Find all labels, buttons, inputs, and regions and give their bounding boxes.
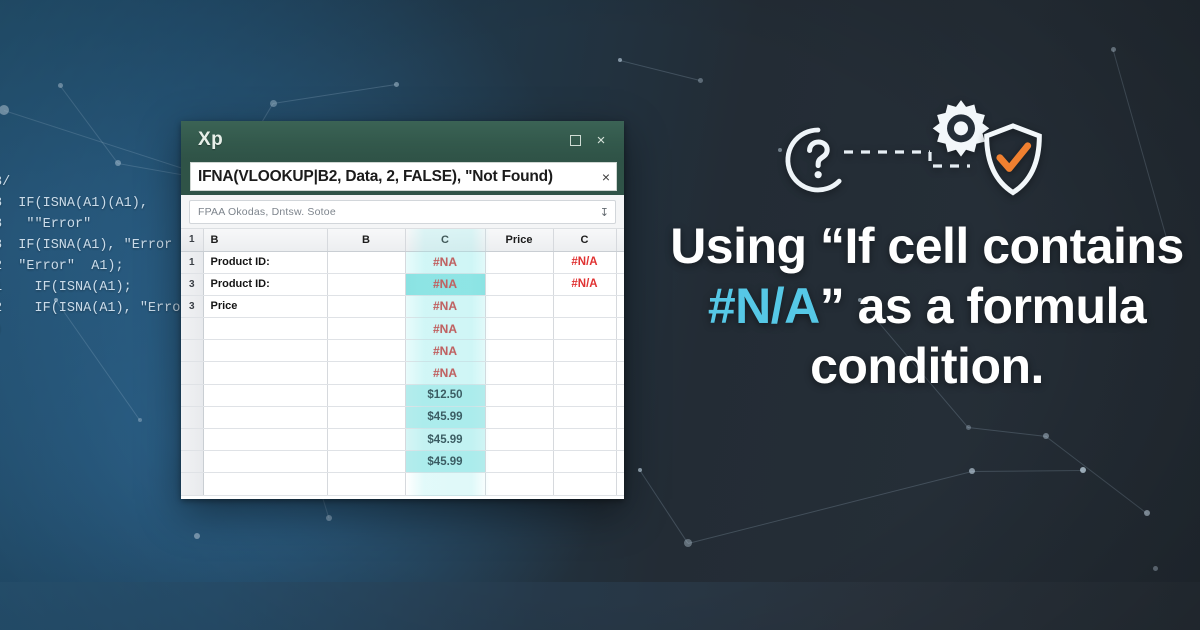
column-header-b2[interactable]: B (327, 229, 405, 251)
cell-empty[interactable] (203, 384, 327, 406)
cell-empty[interactable] (327, 340, 405, 362)
code-line: 8 IF(ISNA(A1)(A1), (0, 193, 200, 214)
cell-price-value[interactable]: $12.50 (405, 384, 485, 406)
row-header[interactable] (181, 362, 203, 384)
cell-empty[interactable] (203, 340, 327, 362)
table-row[interactable]: 3Product ID:#NA#N/A (181, 273, 624, 295)
cell-na-value[interactable]: #NA (405, 318, 485, 340)
clear-formula-icon[interactable]: × (598, 169, 610, 185)
code-line: ) (0, 319, 200, 340)
secondary-bar-container: FPAA Okodas, Dntsw. Sotoe ↧ (181, 195, 624, 229)
cell-empty[interactable] (485, 318, 553, 340)
name-box-bar[interactable]: FPAA Okodas, Dntsw. Sotoe ↧ (189, 200, 616, 224)
cell-price-value[interactable]: $45.99 (405, 451, 485, 473)
cell-empty[interactable] (485, 340, 553, 362)
code-line: 1 IF(ISNA(A1); (0, 277, 200, 298)
code-line: 8 ""Error" (0, 214, 200, 235)
cell-empty[interactable] (616, 340, 624, 362)
row-header[interactable]: 1 (181, 251, 203, 273)
cell-empty[interactable] (327, 362, 405, 384)
cell-empty[interactable] (616, 384, 624, 406)
headline-part1: Using “If cell contains (670, 218, 1184, 274)
corner-header[interactable]: 1 (181, 229, 203, 251)
table-row[interactable]: #NA (181, 340, 624, 362)
cell-empty[interactable] (327, 473, 405, 495)
code-line: 2 "Error" A1); (0, 256, 200, 277)
icon-cluster (782, 96, 1050, 196)
cell-empty[interactable] (327, 318, 405, 340)
cell-empty[interactable] (616, 295, 624, 317)
cell-label[interactable]: Product ID: (203, 273, 327, 295)
table-row[interactable]: #NA (181, 362, 624, 384)
cell-empty[interactable] (485, 406, 553, 428)
cell-price-value[interactable]: $45.99 (405, 406, 485, 428)
cell-empty[interactable] (616, 473, 624, 495)
column-header-price[interactable]: Price (485, 229, 553, 251)
cell-empty[interactable] (616, 362, 624, 384)
headline-part2: ” as a formula condition. (810, 278, 1146, 394)
cell-empty[interactable] (616, 451, 624, 473)
cell-na-value[interactable]: #NA (405, 362, 485, 384)
row-header[interactable] (181, 429, 203, 451)
row-header[interactable] (181, 406, 203, 428)
code-line: 3/ (0, 172, 200, 193)
cell-empty[interactable] (203, 473, 327, 495)
headline-highlight: #N/A (708, 278, 820, 334)
cell-empty[interactable] (485, 295, 553, 317)
row-header[interactable] (181, 384, 203, 406)
column-header-b1[interactable]: B (203, 229, 327, 251)
download-icon[interactable]: ↧ (600, 206, 609, 219)
cell-na-right[interactable]: #N/A (553, 251, 616, 273)
cell-na-value[interactable]: #NA (405, 273, 485, 295)
column-header-blank[interactable] (616, 229, 624, 251)
cell-empty[interactable] (327, 451, 405, 473)
cell-empty[interactable] (203, 406, 327, 428)
cell-empty[interactable] (553, 384, 616, 406)
table-row[interactable]: $12.50 (181, 384, 624, 406)
table-row[interactable]: #NA (181, 318, 624, 340)
cell-empty[interactable] (203, 451, 327, 473)
cell-price-value[interactable]: $45.99 (405, 429, 485, 451)
cell-empty[interactable] (203, 318, 327, 340)
cell-empty[interactable] (485, 451, 553, 473)
grid-body: 1Product ID:#NA#N/A3Product ID:#NA#N/A3P… (181, 251, 624, 495)
secondary-input[interactable]: FPAA Okodas, Dntsw. Sotoe (198, 206, 600, 218)
cell-na-value[interactable]: #NA (405, 251, 485, 273)
row-header[interactable]: 3 (181, 295, 203, 317)
cell-empty[interactable] (485, 473, 553, 495)
cell-empty[interactable] (553, 318, 616, 340)
maximize-button[interactable] (562, 127, 588, 153)
formula-bar[interactable]: IFNA(VLOOKUP|B2, Data, 2, FALSE), "Not F… (190, 162, 617, 191)
close-button[interactable]: × (588, 127, 614, 153)
cell-empty[interactable] (616, 318, 624, 340)
code-overlay: 3/8 IF(ISNA(A1)(A1),8 ""Error"8 IF(ISNA(… (0, 172, 200, 340)
cell-empty[interactable] (485, 429, 553, 451)
cell-empty[interactable] (327, 429, 405, 451)
grid-table: 1 B B C Price C 1Product ID:#NA#N/A3Prod… (181, 229, 624, 496)
cell-empty[interactable] (405, 473, 485, 495)
cell-na-value[interactable]: #NA (405, 340, 485, 362)
window-title: Xp (198, 129, 562, 151)
formula-input[interactable]: IFNA(VLOOKUP|B2, Data, 2, FALSE), "Not F… (198, 168, 598, 186)
row-header[interactable] (181, 318, 203, 340)
cell-empty[interactable] (553, 295, 616, 317)
row-header[interactable] (181, 473, 203, 495)
code-line: 2 IF(ISNA(A1), "Erro (0, 298, 200, 319)
cell-empty[interactable] (553, 406, 616, 428)
maximize-icon (570, 135, 581, 146)
cell-empty[interactable] (485, 384, 553, 406)
grid-header-row: 1 B B C Price C (181, 229, 624, 251)
row-header[interactable] (181, 451, 203, 473)
spreadsheet-grid[interactable]: 1 B B C Price C 1Product ID:#NA#N/A3Prod… (181, 229, 624, 496)
cell-empty[interactable] (485, 251, 553, 273)
column-header-c1[interactable]: C (405, 229, 485, 251)
cell-empty[interactable] (553, 429, 616, 451)
column-header-c2[interactable]: C (553, 229, 616, 251)
shield-check-icon (982, 122, 1044, 198)
cell-empty[interactable] (327, 384, 405, 406)
window-title-bar: Xp × (181, 121, 624, 159)
cell-na-value[interactable]: #NA (405, 295, 485, 317)
cell-na-right[interactable]: #N/A (553, 273, 616, 295)
cell-empty[interactable] (327, 273, 405, 295)
cell-empty[interactable] (616, 429, 624, 451)
cell-empty[interactable] (553, 473, 616, 495)
headline: Using “If cell contains #N/A” as a formu… (660, 216, 1194, 396)
table-row[interactable]: 3Price#NA (181, 295, 624, 317)
cell-empty[interactable] (616, 273, 624, 295)
spreadsheet-window: Xp × IFNA(VLOOKUP|B2, Data, 2, FALSE), "… (181, 121, 624, 499)
table-row[interactable]: 1Product ID:#NA#N/A (181, 251, 624, 273)
row-header[interactable] (181, 340, 203, 362)
cell-empty[interactable] (616, 406, 624, 428)
cell-empty[interactable] (203, 429, 327, 451)
cell-empty[interactable] (553, 451, 616, 473)
row-header[interactable]: 3 (181, 273, 203, 295)
table-row[interactable]: $45.99 (181, 451, 624, 473)
code-line: 8 IF(ISNA(A1), "Error (0, 235, 200, 256)
cell-empty[interactable] (553, 340, 616, 362)
cell-empty[interactable] (553, 362, 616, 384)
cell-empty[interactable] (485, 273, 553, 295)
cell-empty[interactable] (616, 251, 624, 273)
cell-empty[interactable] (203, 362, 327, 384)
cell-label[interactable]: Price (203, 295, 327, 317)
cell-label[interactable]: Product ID: (203, 251, 327, 273)
cell-empty[interactable] (327, 251, 405, 273)
cell-empty[interactable] (327, 295, 405, 317)
cell-empty[interactable] (485, 362, 553, 384)
table-row[interactable] (181, 473, 624, 495)
table-row[interactable]: $45.99 (181, 429, 624, 451)
table-row[interactable]: $45.99 (181, 406, 624, 428)
cell-empty[interactable] (327, 406, 405, 428)
formula-bar-container: IFNA(VLOOKUP|B2, Data, 2, FALSE), "Not F… (181, 159, 624, 195)
